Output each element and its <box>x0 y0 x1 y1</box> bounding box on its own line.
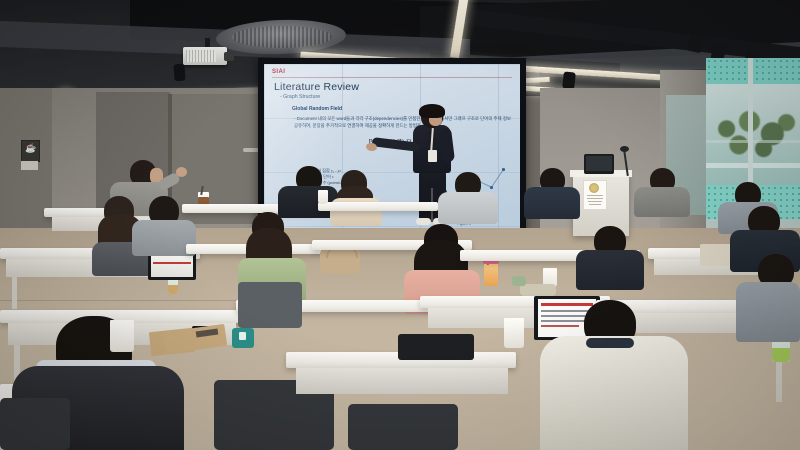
laptop-closed-foreground[interactable] <box>398 334 474 360</box>
window-rail <box>706 163 800 168</box>
water-bottle-contents <box>772 348 790 362</box>
ceiling-speaker-icon-left <box>173 64 185 82</box>
laptop-doc-line-4 <box>541 325 579 327</box>
presenter-id-badge <box>428 150 437 162</box>
desk-leg <box>12 277 17 309</box>
desk-foreground-center-modesty <box>296 368 508 394</box>
desk-row1-right <box>318 202 438 211</box>
no-drink-glyph-icon: ☕ <box>25 143 34 154</box>
chair-foreground-left <box>0 398 70 450</box>
presenter-hair <box>419 104 445 118</box>
podium-sign-logo-icon <box>589 183 599 193</box>
laptop-doc-line-1 <box>541 310 591 312</box>
laptop-doc-line-2 <box>541 315 585 317</box>
projector-vent <box>186 50 216 62</box>
desk-leg-right <box>776 362 782 402</box>
window-teal-panel-top <box>706 58 800 84</box>
outside-foliage <box>709 104 797 166</box>
laptop-doc-title-line <box>541 303 593 306</box>
presenter-shoe-left <box>416 218 431 225</box>
paper-cup-row3 <box>504 318 524 348</box>
paper-cup-foreground <box>110 320 134 352</box>
ceiling-speaker-icon-right <box>562 71 576 89</box>
paper-cup-row1 <box>318 190 328 204</box>
podium-laptop-screen <box>586 156 612 171</box>
lecture-room-photo: ☕ SIAI Literature Review - Graph Structu… <box>0 0 800 450</box>
microphone-icon <box>620 146 629 152</box>
laptop-screen-row2 <box>151 255 193 277</box>
wall-sign-label-strip <box>21 161 38 170</box>
laptop-doc-line-3 <box>541 320 589 322</box>
folded-cloth <box>520 284 556 296</box>
water-bottle-label <box>168 285 178 294</box>
chair-foreground-right <box>348 404 458 450</box>
orange-juice-cup <box>484 262 498 286</box>
green-item <box>512 276 526 286</box>
laptop-screen-text-line <box>153 262 191 264</box>
door-handle[interactable] <box>243 148 259 152</box>
projector-lens-icon <box>224 52 234 61</box>
window-mullion-horizontal <box>706 140 800 143</box>
ceiling-ac-grille-icon <box>232 26 332 48</box>
teal-pouch-tag <box>239 332 246 340</box>
chair-row3-center <box>238 282 302 328</box>
